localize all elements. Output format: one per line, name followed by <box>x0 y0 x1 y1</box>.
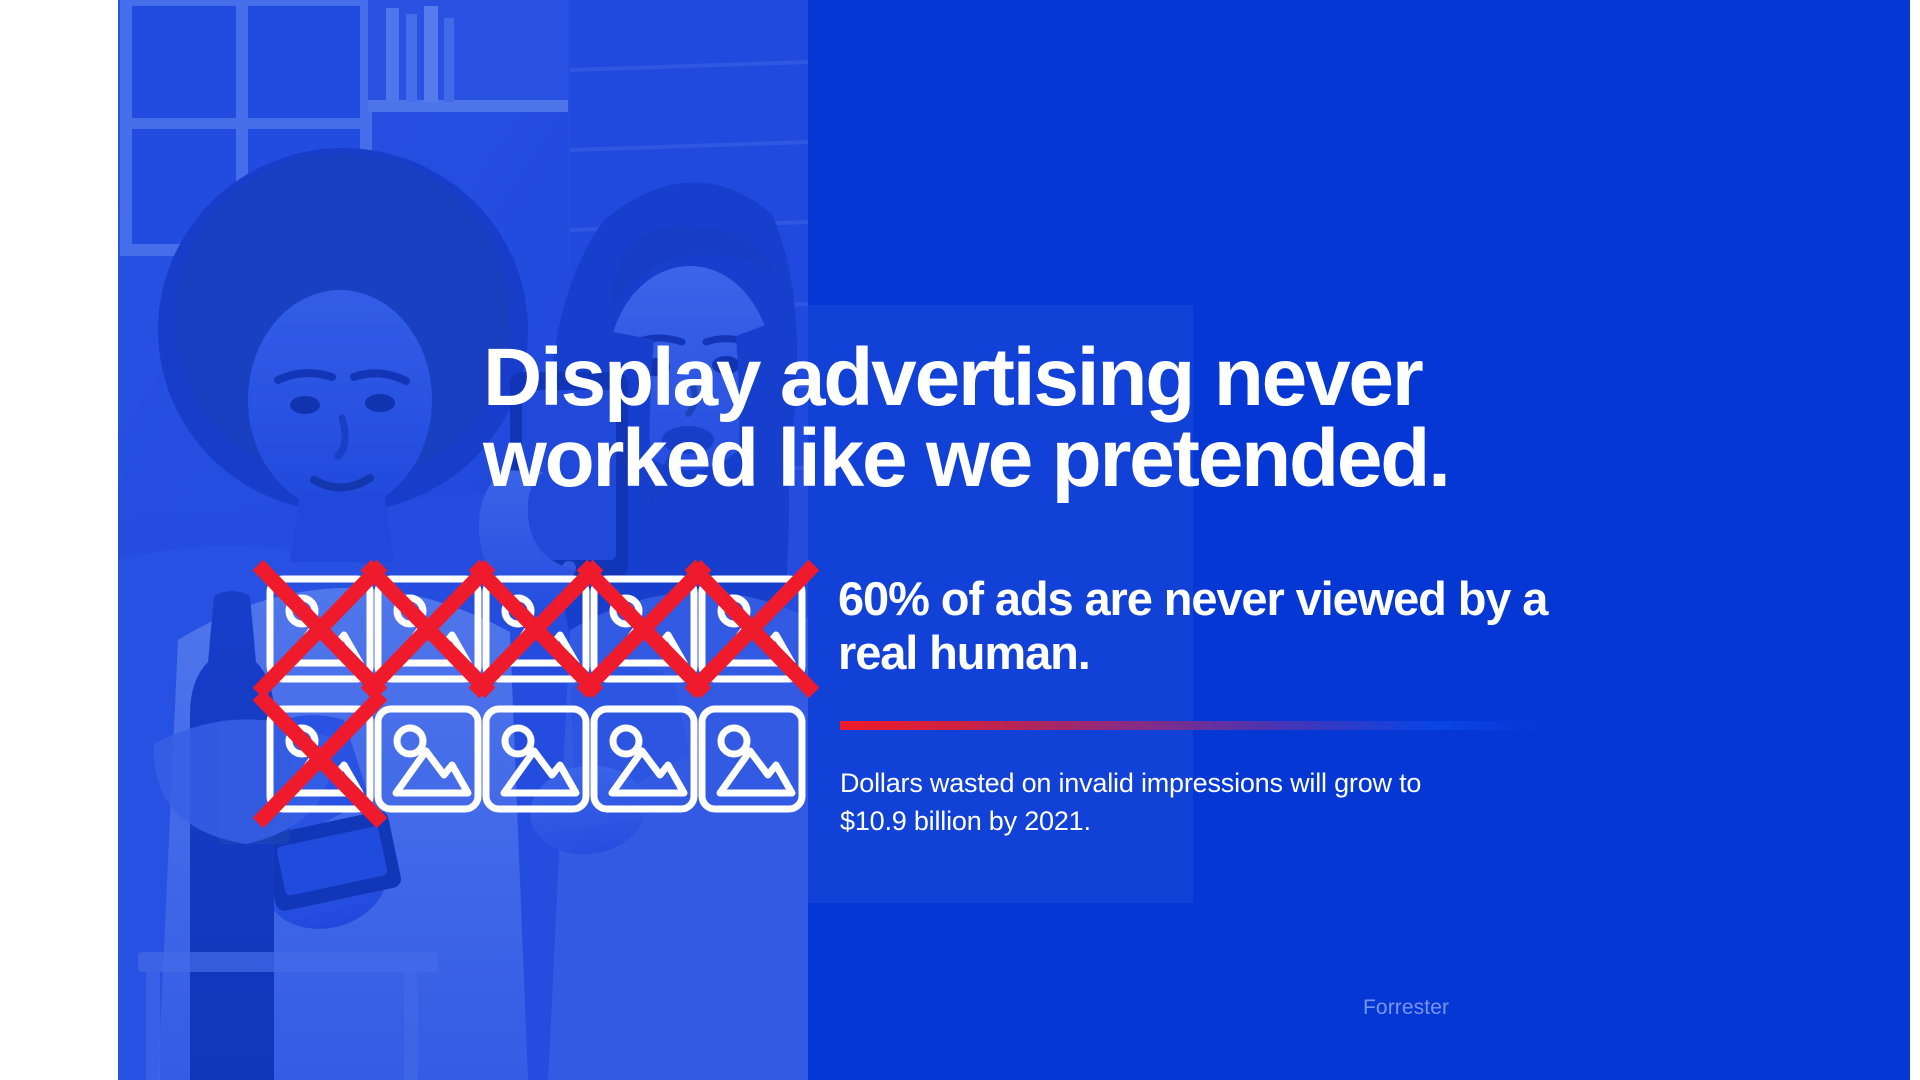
copy-block: Display advertising never worked like we… <box>483 0 1903 1080</box>
gradient-divider <box>840 721 1545 730</box>
slide: Display advertising never worked like we… <box>0 0 1920 1080</box>
source-attribution: Forrester <box>1363 996 1663 1020</box>
supporting-text: Dollars wasted on invalid impressions wi… <box>840 764 1460 841</box>
page-title: Display advertising never worked like we… <box>483 337 1543 499</box>
stat-headline: 60% of ads are never viewed by a real hu… <box>838 572 1598 679</box>
slide-canvas: Display advertising never worked like we… <box>118 0 1910 1080</box>
